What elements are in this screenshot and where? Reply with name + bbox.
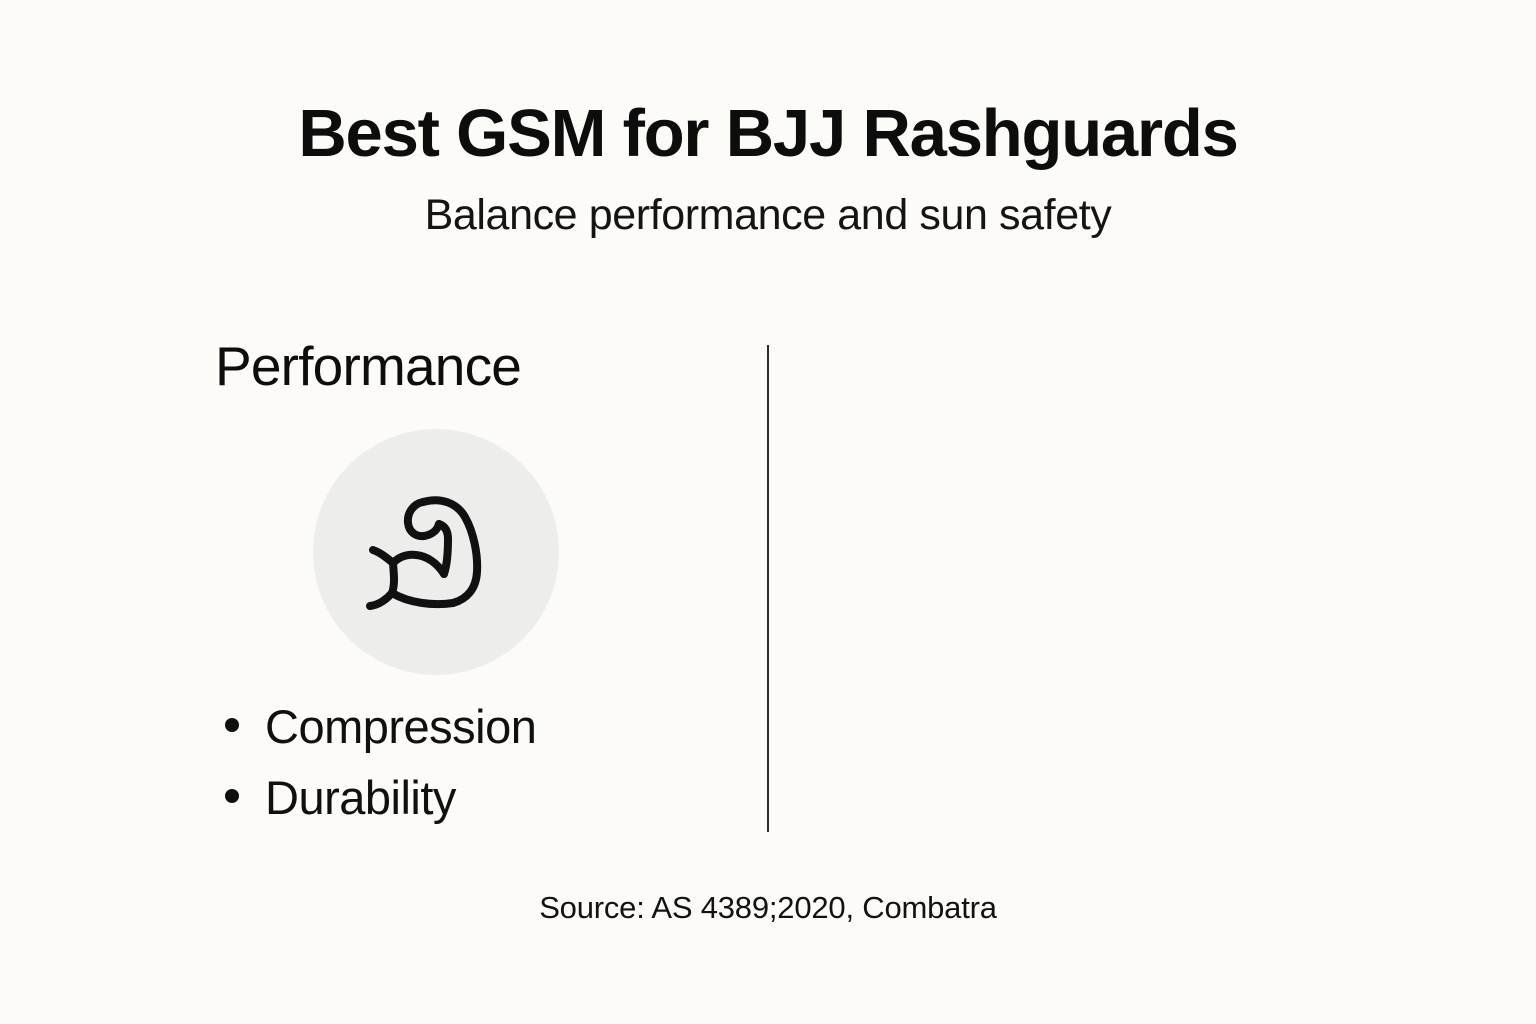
bullet-list-performance: Compression Durability xyxy=(225,703,536,821)
column-performance: Performance xyxy=(0,336,616,856)
page-subtitle: Balance performance and sun safety xyxy=(0,192,1536,239)
columns-container: Performance xyxy=(0,336,1536,856)
bullet-dot-icon xyxy=(225,718,239,732)
bullet-label: Durability xyxy=(265,774,456,821)
list-item: Durability xyxy=(225,774,536,821)
flexed-bicep-icon xyxy=(361,477,511,627)
infographic-canvas: Best GSM for BJJ Rashguards Balance perf… xyxy=(0,0,1536,1024)
source-note: Source: AS 4389;2020, Combatra xyxy=(0,890,1536,926)
column-heading-performance: Performance xyxy=(215,336,521,397)
page-title: Best GSM for BJJ Rashguards xyxy=(0,98,1536,170)
column-sun-safety: Sun Safety xyxy=(616,336,1536,856)
header-block: Best GSM for BJJ Rashguards Balance perf… xyxy=(0,98,1536,240)
icon-badge-performance xyxy=(313,429,559,675)
list-item: Compression xyxy=(225,703,536,750)
bullet-dot-icon xyxy=(225,789,239,803)
bullet-label: Compression xyxy=(265,703,536,750)
